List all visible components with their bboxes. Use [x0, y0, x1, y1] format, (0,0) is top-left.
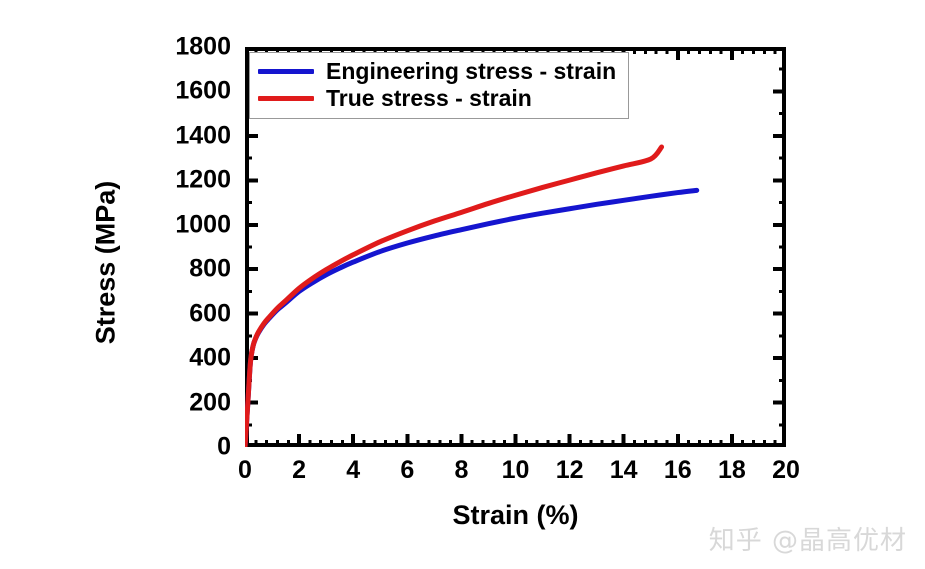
x-tick-label: 12: [556, 458, 584, 483]
x-tick-label: 2: [292, 458, 306, 483]
x-tick-label: 8: [454, 458, 468, 483]
x-tick-label: 14: [610, 458, 638, 483]
legend-label: Engineering stress - strain: [326, 60, 616, 83]
legend: Engineering stress - strainTrue stress -…: [249, 52, 629, 119]
legend-color-swatch: [258, 96, 314, 101]
stress-strain-figure: 020040060080010001200140016001800 024681…: [0, 0, 925, 569]
x-tick-label: 18: [718, 458, 746, 483]
y-tick-label: 1800: [175, 35, 231, 60]
x-tick-label: 6: [400, 458, 414, 483]
x-tick-label: 20: [772, 458, 800, 483]
y-tick-label: 200: [189, 390, 231, 415]
y-tick-label: 800: [189, 257, 231, 282]
y-tick-label: 400: [189, 346, 231, 371]
y-tick-label: 600: [189, 301, 231, 326]
series-line-2: [245, 147, 662, 447]
y-tick-label: 1400: [175, 123, 231, 148]
x-axis-title: Strain (%): [245, 500, 786, 531]
y-axis-title: Stress (MPa): [91, 113, 122, 413]
y-tick-label: 1000: [175, 212, 231, 237]
watermark: 知乎 @晶高优材: [709, 520, 907, 557]
x-tick-label: 0: [238, 458, 252, 483]
legend-entry: True stress - strain: [258, 85, 616, 112]
x-tick-label: 16: [664, 458, 692, 483]
legend-label: True stress - strain: [326, 87, 532, 110]
y-tick-label: 0: [217, 435, 231, 460]
x-tick-label: 4: [346, 458, 360, 483]
series-line-1: [245, 190, 697, 447]
legend-entry: Engineering stress - strain: [258, 58, 616, 85]
legend-color-swatch: [258, 69, 314, 74]
y-tick-label: 1600: [175, 79, 231, 104]
y-tick-label: 1200: [175, 168, 231, 193]
x-tick-label: 10: [502, 458, 530, 483]
